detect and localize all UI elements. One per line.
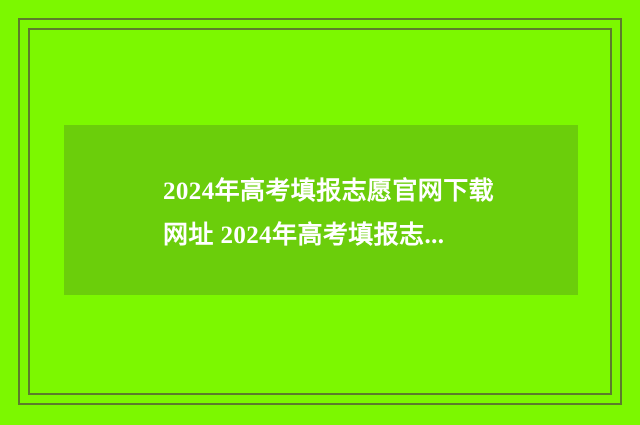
thumbnail-card: 2024年高考填报志愿官网下载 网址 2024年高考填报志...: [0, 0, 640, 425]
content-panel: 2024年高考填报志愿官网下载 网址 2024年高考填报志...: [64, 125, 578, 295]
headline-block: 2024年高考填报志愿官网下载 网址 2024年高考填报志...: [163, 170, 563, 258]
headline-line-1: 2024年高考填报志愿官网下载: [163, 170, 563, 214]
headline-line-2: 网址 2024年高考填报志...: [163, 214, 563, 258]
